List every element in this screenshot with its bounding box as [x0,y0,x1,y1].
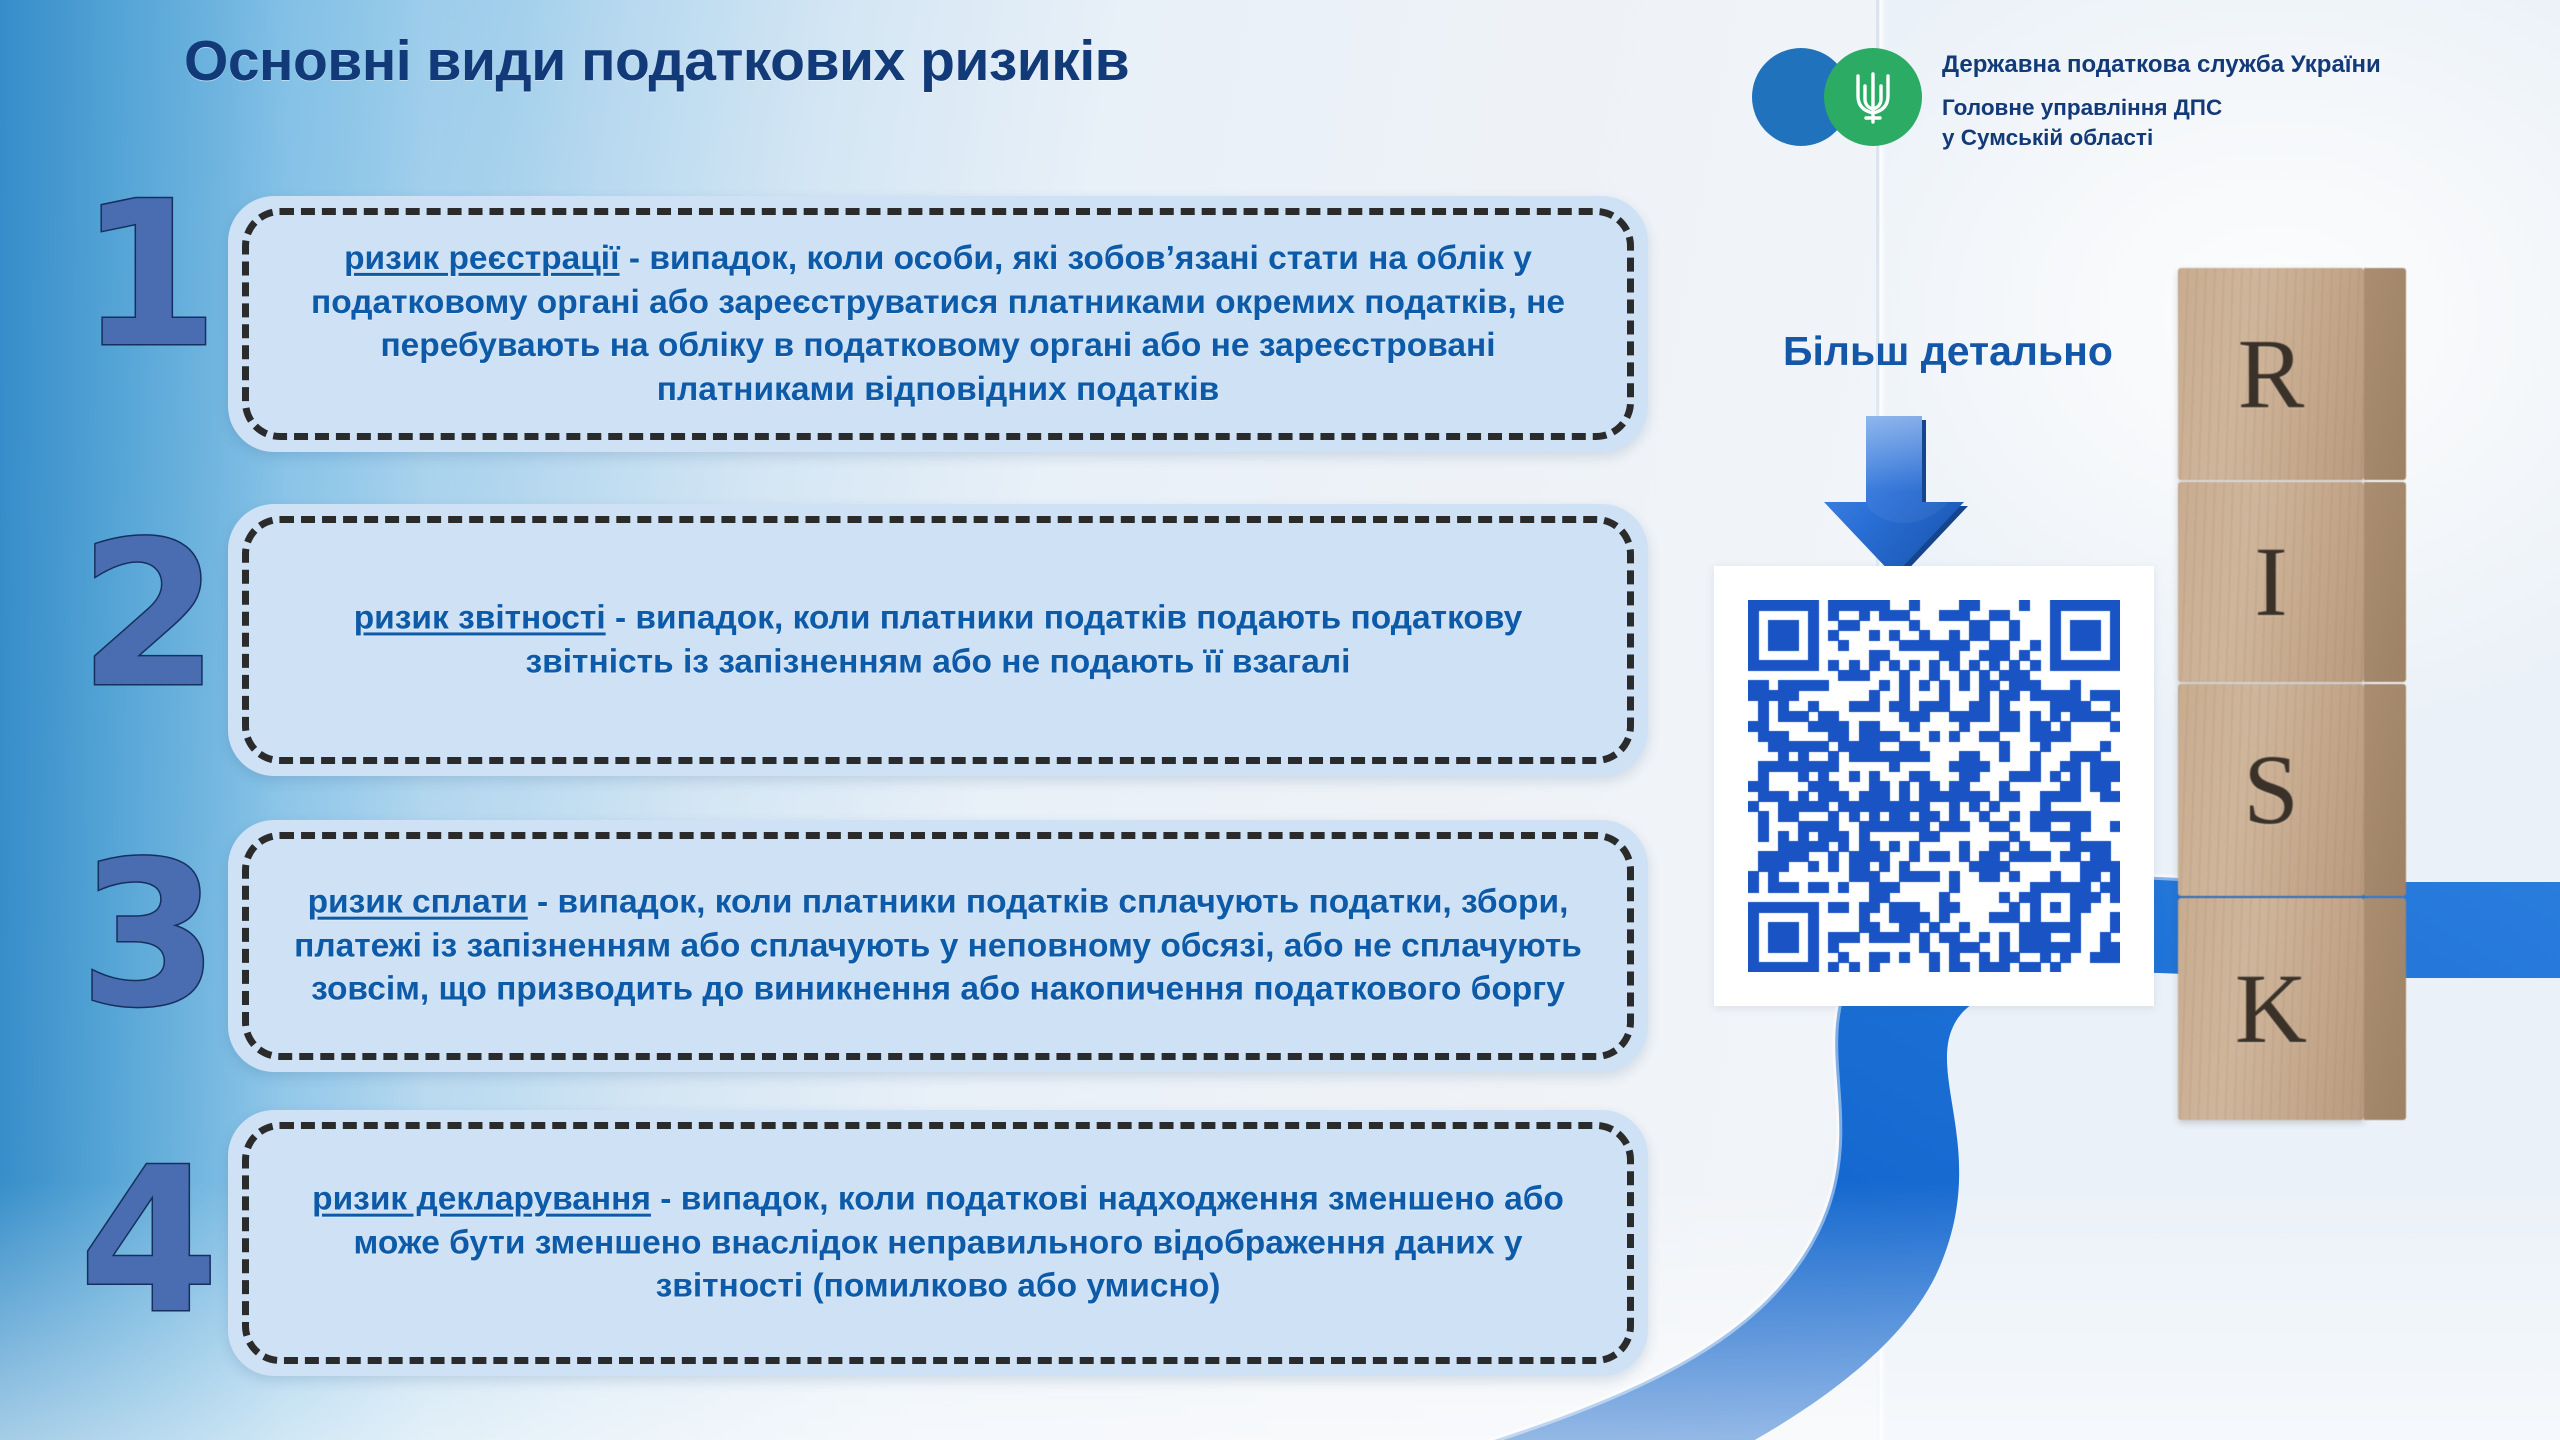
more-details-label: Більш детально [1718,328,2178,375]
block-letter-r: R [2178,268,2364,480]
risk-separator-3: - [528,884,558,921]
logo-department-name: Головне управління ДПС у Сумській област… [1942,93,2381,152]
block-glyph: S [2243,740,2299,840]
risk-term-4: ризик декларування [312,1181,651,1218]
risk-card-1-text: ризик реєстрації - випадок, коли особи, … [228,237,1648,411]
arrow-down-icon [1808,414,1988,584]
risk-card-2[interactable]: ризик звітності - випадок, коли платники… [228,504,1648,776]
logo-text: Державна податкова служба України Головн… [1942,48,2381,152]
risk-card-3[interactable]: ризик сплати - випадок, коли платники по… [228,820,1648,1072]
risk-term-1: ризик реєстрації [344,240,619,277]
risk-number-1: 1 [44,176,254,376]
risk-separator-4: - [651,1181,681,1218]
logo-department-line-1: Головне управління ДПС [1942,93,2381,122]
risk-term-2: ризик звітності [354,599,606,636]
page-title: Основні види податкових ризиків [184,28,1129,94]
logo-agency-name: Державна податкова служба України [1942,50,2381,79]
qr-code-panel[interactable] [1714,566,2154,1006]
risk-number-4: 4 [44,1142,254,1342]
block-letter-k: K [2178,898,2364,1120]
block-letter-i: I [2178,482,2364,682]
block-glyph: R [2238,324,2305,424]
wooden-blocks-risk-photo: R I S K [2178,268,2408,1168]
risk-number-2: 2 [44,516,254,716]
logo-green-circle-icon [1824,48,1922,146]
qr-code-icon[interactable] [1748,600,2120,972]
logo-marks [1752,48,1938,148]
risk-card-4-text: ризик декларування - випадок, коли подат… [228,1178,1648,1309]
block-letter-s: S [2178,684,2364,896]
risk-card-3-text: ризик сплати - випадок, коли платники по… [228,881,1648,1012]
logo-department-line-2: у Сумській області [1942,123,2381,152]
risk-number-3: 3 [44,836,254,1036]
block-glyph: I [2254,532,2287,632]
risk-term-3: ризик сплати [308,884,528,921]
risk-card-4[interactable]: ризик декларування - випадок, коли подат… [228,1110,1648,1376]
agency-logo: Державна податкова служба України Головн… [1752,48,2381,152]
risk-separator-1: - [620,240,650,277]
infographic-canvas: R I S K Основні види податкових ризиків [0,0,2560,1440]
risk-card-2-text: ризик звітності - випадок, коли платники… [228,596,1648,683]
risk-separator-2: - [606,599,636,636]
block-glyph: K [2235,959,2307,1059]
risk-description-2: випадок, коли платники податків подають … [526,599,1523,680]
ukraine-trident-icon [1850,66,1896,128]
risk-card-1[interactable]: ризик реєстрації - випадок, коли особи, … [228,196,1648,452]
